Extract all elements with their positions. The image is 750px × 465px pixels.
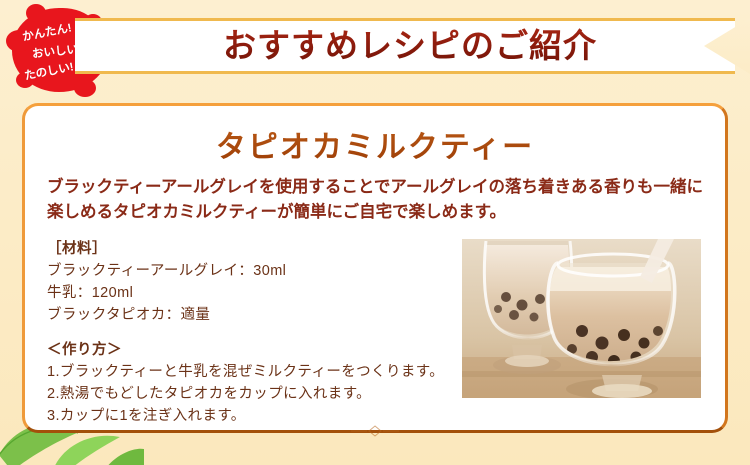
recipe-card: タピオカミルクティー ブラックティーアールグレイを使用することでアールグレイの落… bbox=[22, 103, 728, 433]
instructions-heading: ＜作り方＞ bbox=[47, 339, 467, 361]
instruction-step: 2.熱湯でもどしたタピオカをカップに入れます。 bbox=[47, 383, 467, 405]
instruction-step: 3.カップに1を注ぎ入れます。 bbox=[47, 405, 467, 427]
recipe-text-column: ［材料］ ブラックティーアールグレイ：30ml 牛乳：120ml ブラックタピオ… bbox=[47, 238, 467, 427]
seal-line-3: たのしい! bbox=[23, 58, 75, 83]
recipe-body: ［材料］ ブラックティーアールグレイ：30ml 牛乳：120ml ブラックタピオ… bbox=[47, 238, 703, 420]
ingredient-item: 牛乳：120ml bbox=[47, 282, 467, 304]
recipe-page: かんたん! おいしい! たのしい! おすすめレシピのご紹介 タピオカミルクティー… bbox=[0, 0, 750, 465]
seal-line-1: かんたん! bbox=[21, 19, 73, 44]
recipe-title: タピオカミルクティー bbox=[25, 122, 725, 166]
page-title: おすすめレシピのご紹介 bbox=[160, 22, 660, 70]
recipe-photo bbox=[462, 239, 701, 398]
instruction-step: 1.ブラックティーと牛乳を混ぜミルクティーをつくります。 bbox=[47, 361, 467, 383]
section-spacer bbox=[47, 326, 467, 339]
ingredient-item: ブラックティーアールグレイ：30ml bbox=[47, 260, 467, 282]
recipe-description: ブラックティーアールグレイを使用することでアールグレイの落ち着きある香りも一緒に… bbox=[47, 174, 703, 224]
seal-line-2: おいしい! bbox=[31, 40, 82, 61]
ingredients-heading: ［材料］ bbox=[47, 238, 467, 260]
ingredient-item: ブラックタピオカ：適量 bbox=[47, 304, 467, 326]
